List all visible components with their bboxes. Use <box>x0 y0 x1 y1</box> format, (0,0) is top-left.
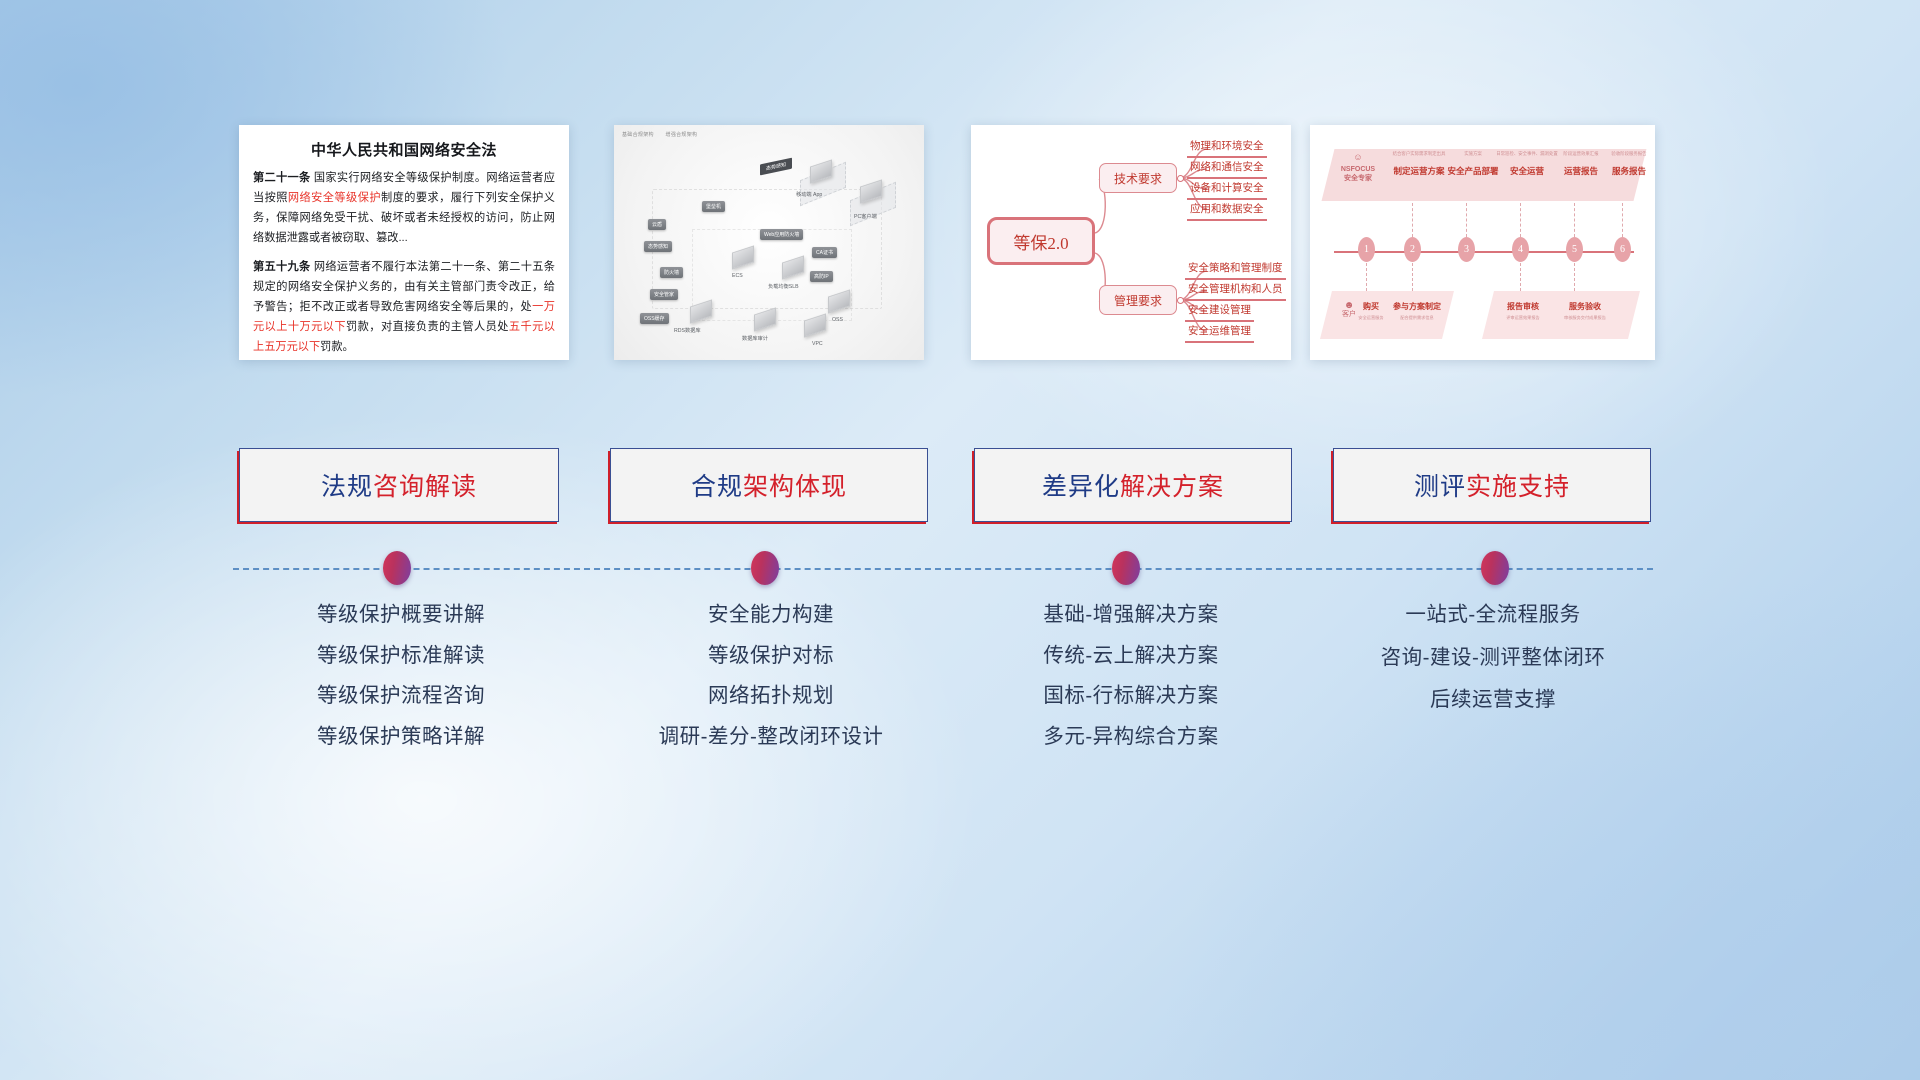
section-title-1-red: 咨询解读 <box>373 473 477 501</box>
section-title-2-blue: 合规 <box>691 473 743 501</box>
section-title-1-text: 法规咨询解读 <box>321 467 477 503</box>
nsfocus-service-flow-card[interactable]: ☺ NSFOCUS 安全专家 结合客户实际需求制定出具 制定运营方案 实施方案 … <box>1310 125 1655 360</box>
bottom-step-4: 服务验收 审核服务交付成果报告 <box>1554 301 1616 320</box>
connector-dash-2 <box>1466 203 1467 237</box>
expert-person-icon: ☺ <box>1328 153 1388 162</box>
list-item: 等级保护流程咨询 <box>216 686 586 707</box>
mindmap-root: 等保2.0 <box>987 217 1095 265</box>
section-title-4[interactable]: 测评实施支持 <box>1333 448 1651 522</box>
mindmap-leaf-application: 应用和数据安全 <box>1187 200 1267 221</box>
mindmap-leaf-network: 网络和通信安全 <box>1187 158 1267 179</box>
detail-column-row: 等级保护概要讲解 等级保护标准解读 等级保护流程咨询 等级保护策略详解 安全能力… <box>176 605 1744 805</box>
timeline-node-3[interactable] <box>1112 551 1140 585</box>
node-box-cloudshield: 云盾 <box>648 219 666 230</box>
node-label-vpc: VPC <box>812 341 823 347</box>
section-title-3-blue: 差异化 <box>1042 473 1120 501</box>
architecture-node-banner: 态势感知 <box>760 158 792 176</box>
mindmap-collapse-icon-technical[interactable] <box>1177 175 1184 182</box>
timeline-node-4[interactable] <box>1481 551 1509 585</box>
top-step-5-title: 服务报告 <box>1598 165 1655 177</box>
mindmap-collapse-icon-management[interactable] <box>1177 297 1184 304</box>
section-title-1-blue: 法规 <box>321 473 373 501</box>
section-title-row: 法规咨询解读 合规架构体现 差异化解决方案 测评实施支持 <box>176 448 1744 522</box>
list-item: 等级保护概要讲解 <box>216 605 586 626</box>
list-item: 网络拓扑规划 <box>586 686 956 707</box>
section-title-1[interactable]: 法规咨询解读 <box>239 448 559 522</box>
law-title: 中华人民共和国网络安全法 <box>253 139 555 160</box>
list-item: 等级保护策略详解 <box>216 727 586 748</box>
node-label-mobile: 移动端 App <box>796 191 822 198</box>
timeline-axis <box>1334 251 1634 253</box>
article-59-label: 第五十九条 <box>253 261 310 273</box>
mindmap-diagram: 等保2.0 技术要求 物理和环境安全 网络和通信安全 设备和计算安全 应用和数据… <box>971 125 1291 360</box>
bottom-step-3-title: 报告审核 <box>1492 301 1554 312</box>
node-label-ecs: ECS <box>732 273 743 279</box>
law-body: 中华人民共和国网络安全法 第二十一条 国家实行网络安全等级保护制度。网络运营者应… <box>239 125 569 360</box>
top-step-2-sub: 实施方案 <box>1442 151 1504 156</box>
connector-dash-4 <box>1574 203 1575 237</box>
service-flow-diagram: ☺ NSFOCUS 安全专家 结合客户实际需求制定出具 制定运营方案 实施方案 … <box>1310 125 1655 360</box>
section-title-2-red: 架构体现 <box>743 473 847 501</box>
expert-brand: NSFOCUS <box>1328 165 1388 174</box>
node-label-oss: OSS <box>832 317 843 323</box>
top-step-1: 结合客户实际需求制定出具 制定运营方案 <box>1388 151 1450 177</box>
law-article-59: 第五十九条 网络运营者不履行本法第二十一条、第二十五条规定的网络安全保护义务的，… <box>253 258 555 358</box>
timeline-number-6: 6 <box>1614 237 1631 262</box>
node-box-ca: CA证书 <box>812 247 837 258</box>
connector-dash-5 <box>1622 203 1623 237</box>
law-document-card[interactable]: 中华人民共和国网络安全法 第二十一条 国家实行网络安全等级保护制度。网络运营者应… <box>239 125 569 360</box>
top-step-3: 日常巡检、安全事件、漏洞处置 安全运营 <box>1496 151 1558 177</box>
node-label-slb: 负载均衡SLB <box>768 283 799 290</box>
list-item: 基础-增强解决方案 <box>946 605 1316 626</box>
bottom-step-2-title: 参与方案制定 <box>1386 301 1448 312</box>
list-item: 调研-差分-整改闭环设计 <box>586 727 956 748</box>
list-item: 多元-异构综合方案 <box>946 727 1316 748</box>
tag-enhanced: 增强合规架构 <box>666 132 698 138</box>
expert-role: 安全专家 <box>1328 174 1388 183</box>
top-step-3-sub: 日常巡检、安全事件、漏洞处置 <box>1496 151 1558 156</box>
list-item: 后续运营支撑 <box>1304 690 1682 711</box>
node-box-antiddos: 高防IP <box>810 271 833 282</box>
list-item: 传统-云上解决方案 <box>946 646 1316 667</box>
mindmap-leaf-build: 安全建设管理 <box>1185 301 1254 322</box>
timeline-row <box>176 545 1744 595</box>
list-item: 安全能力构建 <box>586 605 956 626</box>
article-59-text-c: 罚款。 <box>320 341 354 353</box>
list-item: 咨询-建设-测评整体闭环 <box>1304 648 1682 669</box>
node-box-situational: 态势感知 <box>644 241 672 252</box>
bottom-step-2-sub: 配合提供需求信息 <box>1386 315 1448 320</box>
list-item: 国标-行标解决方案 <box>946 686 1316 707</box>
section-title-4-blue: 测评 <box>1414 473 1466 501</box>
mindmap-branch-management: 管理要求 <box>1099 285 1177 315</box>
timeline-number-4: 4 <box>1512 237 1529 262</box>
list-item: 一站式-全流程服务 <box>1304 605 1682 626</box>
top-step-2: 实施方案 安全产品部署 <box>1442 151 1504 177</box>
bottom-step-4-title: 服务验收 <box>1554 301 1616 312</box>
node-box-manager: 安全管家 <box>650 289 678 300</box>
top-step-5-sub: 验收阶段服务报告 <box>1598 151 1655 156</box>
connector-dash-7 <box>1412 263 1413 291</box>
bottom-step-2: 参与方案制定 配合提供需求信息 <box>1386 301 1448 320</box>
connector-dash-6 <box>1366 263 1367 291</box>
timeline-number-5: 5 <box>1566 237 1583 262</box>
column-assessment-support: 一站式-全流程服务 咨询-建设-测评整体闭环 后续运营支撑 <box>1304 605 1682 733</box>
connector-dash-3 <box>1520 203 1521 237</box>
law-article-21: 第二十一条 国家实行网络安全等级保护制度。网络运营者应当按照网络安全等级保护制度… <box>253 169 555 249</box>
article-21-label: 第二十一条 <box>253 172 310 184</box>
node-label-pc: PC客户端 <box>854 213 877 220</box>
top-step-3-title: 安全运营 <box>1496 165 1558 177</box>
node-label-rds: RDS数据库 <box>674 327 701 334</box>
timeline-number-1: 1 <box>1358 237 1375 262</box>
article-21-highlight: 网络安全等级保护 <box>288 192 381 204</box>
connector-dash-9 <box>1574 263 1575 291</box>
mindmap-leaf-operation: 安全运维管理 <box>1185 322 1254 343</box>
top-step-1-title: 制定运营方案 <box>1388 165 1450 177</box>
section-title-3[interactable]: 差异化解决方案 <box>974 448 1292 522</box>
list-item: 等级保护对标 <box>586 646 956 667</box>
bottom-step-3: 报告审核 评审运营效果报告 <box>1492 301 1554 320</box>
node-box-waf: Web应用防火墙 <box>760 229 803 240</box>
column-compliance-architecture: 安全能力构建 等级保护对标 网络拓扑规划 调研-差分-整改闭环设计 <box>586 605 956 767</box>
node-box-bastion: 堡垒机 <box>702 201 725 212</box>
connector-dash-8 <box>1520 263 1521 291</box>
section-title-3-text: 差异化解决方案 <box>1042 467 1224 503</box>
section-title-3-red: 解决方案 <box>1120 473 1224 501</box>
list-item: 等级保护标准解读 <box>216 646 586 667</box>
architecture-header-tags: 基础合规架构 增强合规架构 <box>622 131 707 138</box>
bottom-step-3-sub: 评审运营效果报告 <box>1492 315 1554 320</box>
node-box-oss-cache: OSS缓存 <box>640 313 669 324</box>
compliance-architecture-card[interactable]: 基础合规架构 增强合规架构 态势感知 移动端 App PC客户端 堡垒机 云盾 … <box>614 125 924 360</box>
preview-card-row: 中华人民共和国网络安全法 第二十一条 国家实行网络安全等级保护制度。网络运营者应… <box>176 125 1744 360</box>
article-59-text-b: 罚款，对直接负责的主管人员处 <box>346 321 509 333</box>
timeline-node-1[interactable] <box>383 551 411 585</box>
section-title-4-text: 测评实施支持 <box>1414 467 1570 503</box>
top-step-2-title: 安全产品部署 <box>1442 165 1504 177</box>
mindmap-leaf-policy: 安全策略和管理制度 <box>1185 259 1286 280</box>
section-title-2[interactable]: 合规架构体现 <box>610 448 928 522</box>
column-regulation-consulting: 等级保护概要讲解 等级保护标准解读 等级保护流程咨询 等级保护策略详解 <box>216 605 586 767</box>
architecture-diagram: 基础合规架构 增强合规架构 态势感知 移动端 App PC客户端 堡垒机 云盾 … <box>614 125 924 360</box>
mindmap-leaf-org: 安全管理机构和人员 <box>1185 280 1286 301</box>
timeline-number-2: 2 <box>1404 237 1421 262</box>
nsfocus-expert-label: ☺ NSFOCUS 安全专家 <box>1328 153 1388 183</box>
section-title-2-text: 合规架构体现 <box>691 467 847 503</box>
node-label-dbaudit: 数据库审计 <box>742 335 768 342</box>
timeline-number-3: 3 <box>1458 237 1475 262</box>
connector-dash-1 <box>1412 203 1413 237</box>
timeline-node-2[interactable] <box>751 551 779 585</box>
slide-stage: 中华人民共和国网络安全法 第二十一条 国家实行网络安全等级保护制度。网络运营者应… <box>176 0 1744 1080</box>
mlps-mindmap-card[interactable]: 等保2.0 技术要求 物理和环境安全 网络和通信安全 设备和计算安全 应用和数据… <box>971 125 1291 360</box>
node-box-firewall: 防火墙 <box>660 267 683 278</box>
mindmap-leaf-device: 设备和计算安全 <box>1187 179 1267 200</box>
mindmap-leaf-physical: 物理和环境安全 <box>1187 137 1267 158</box>
tag-basic: 基础合规架构 <box>622 132 654 138</box>
timeline-dashed-line <box>233 568 1653 570</box>
mindmap-branch-technical: 技术要求 <box>1099 163 1177 193</box>
top-step-5: 验收阶段服务报告 服务报告 <box>1598 151 1655 177</box>
bottom-step-4-sub: 审核服务交付成果报告 <box>1554 315 1616 320</box>
column-differentiated-solutions: 基础-增强解决方案 传统-云上解决方案 国标-行标解决方案 多元-异构综合方案 <box>946 605 1316 767</box>
section-title-4-red: 实施支持 <box>1466 473 1570 501</box>
top-step-1-sub: 结合客户实际需求制定出具 <box>1388 151 1450 156</box>
